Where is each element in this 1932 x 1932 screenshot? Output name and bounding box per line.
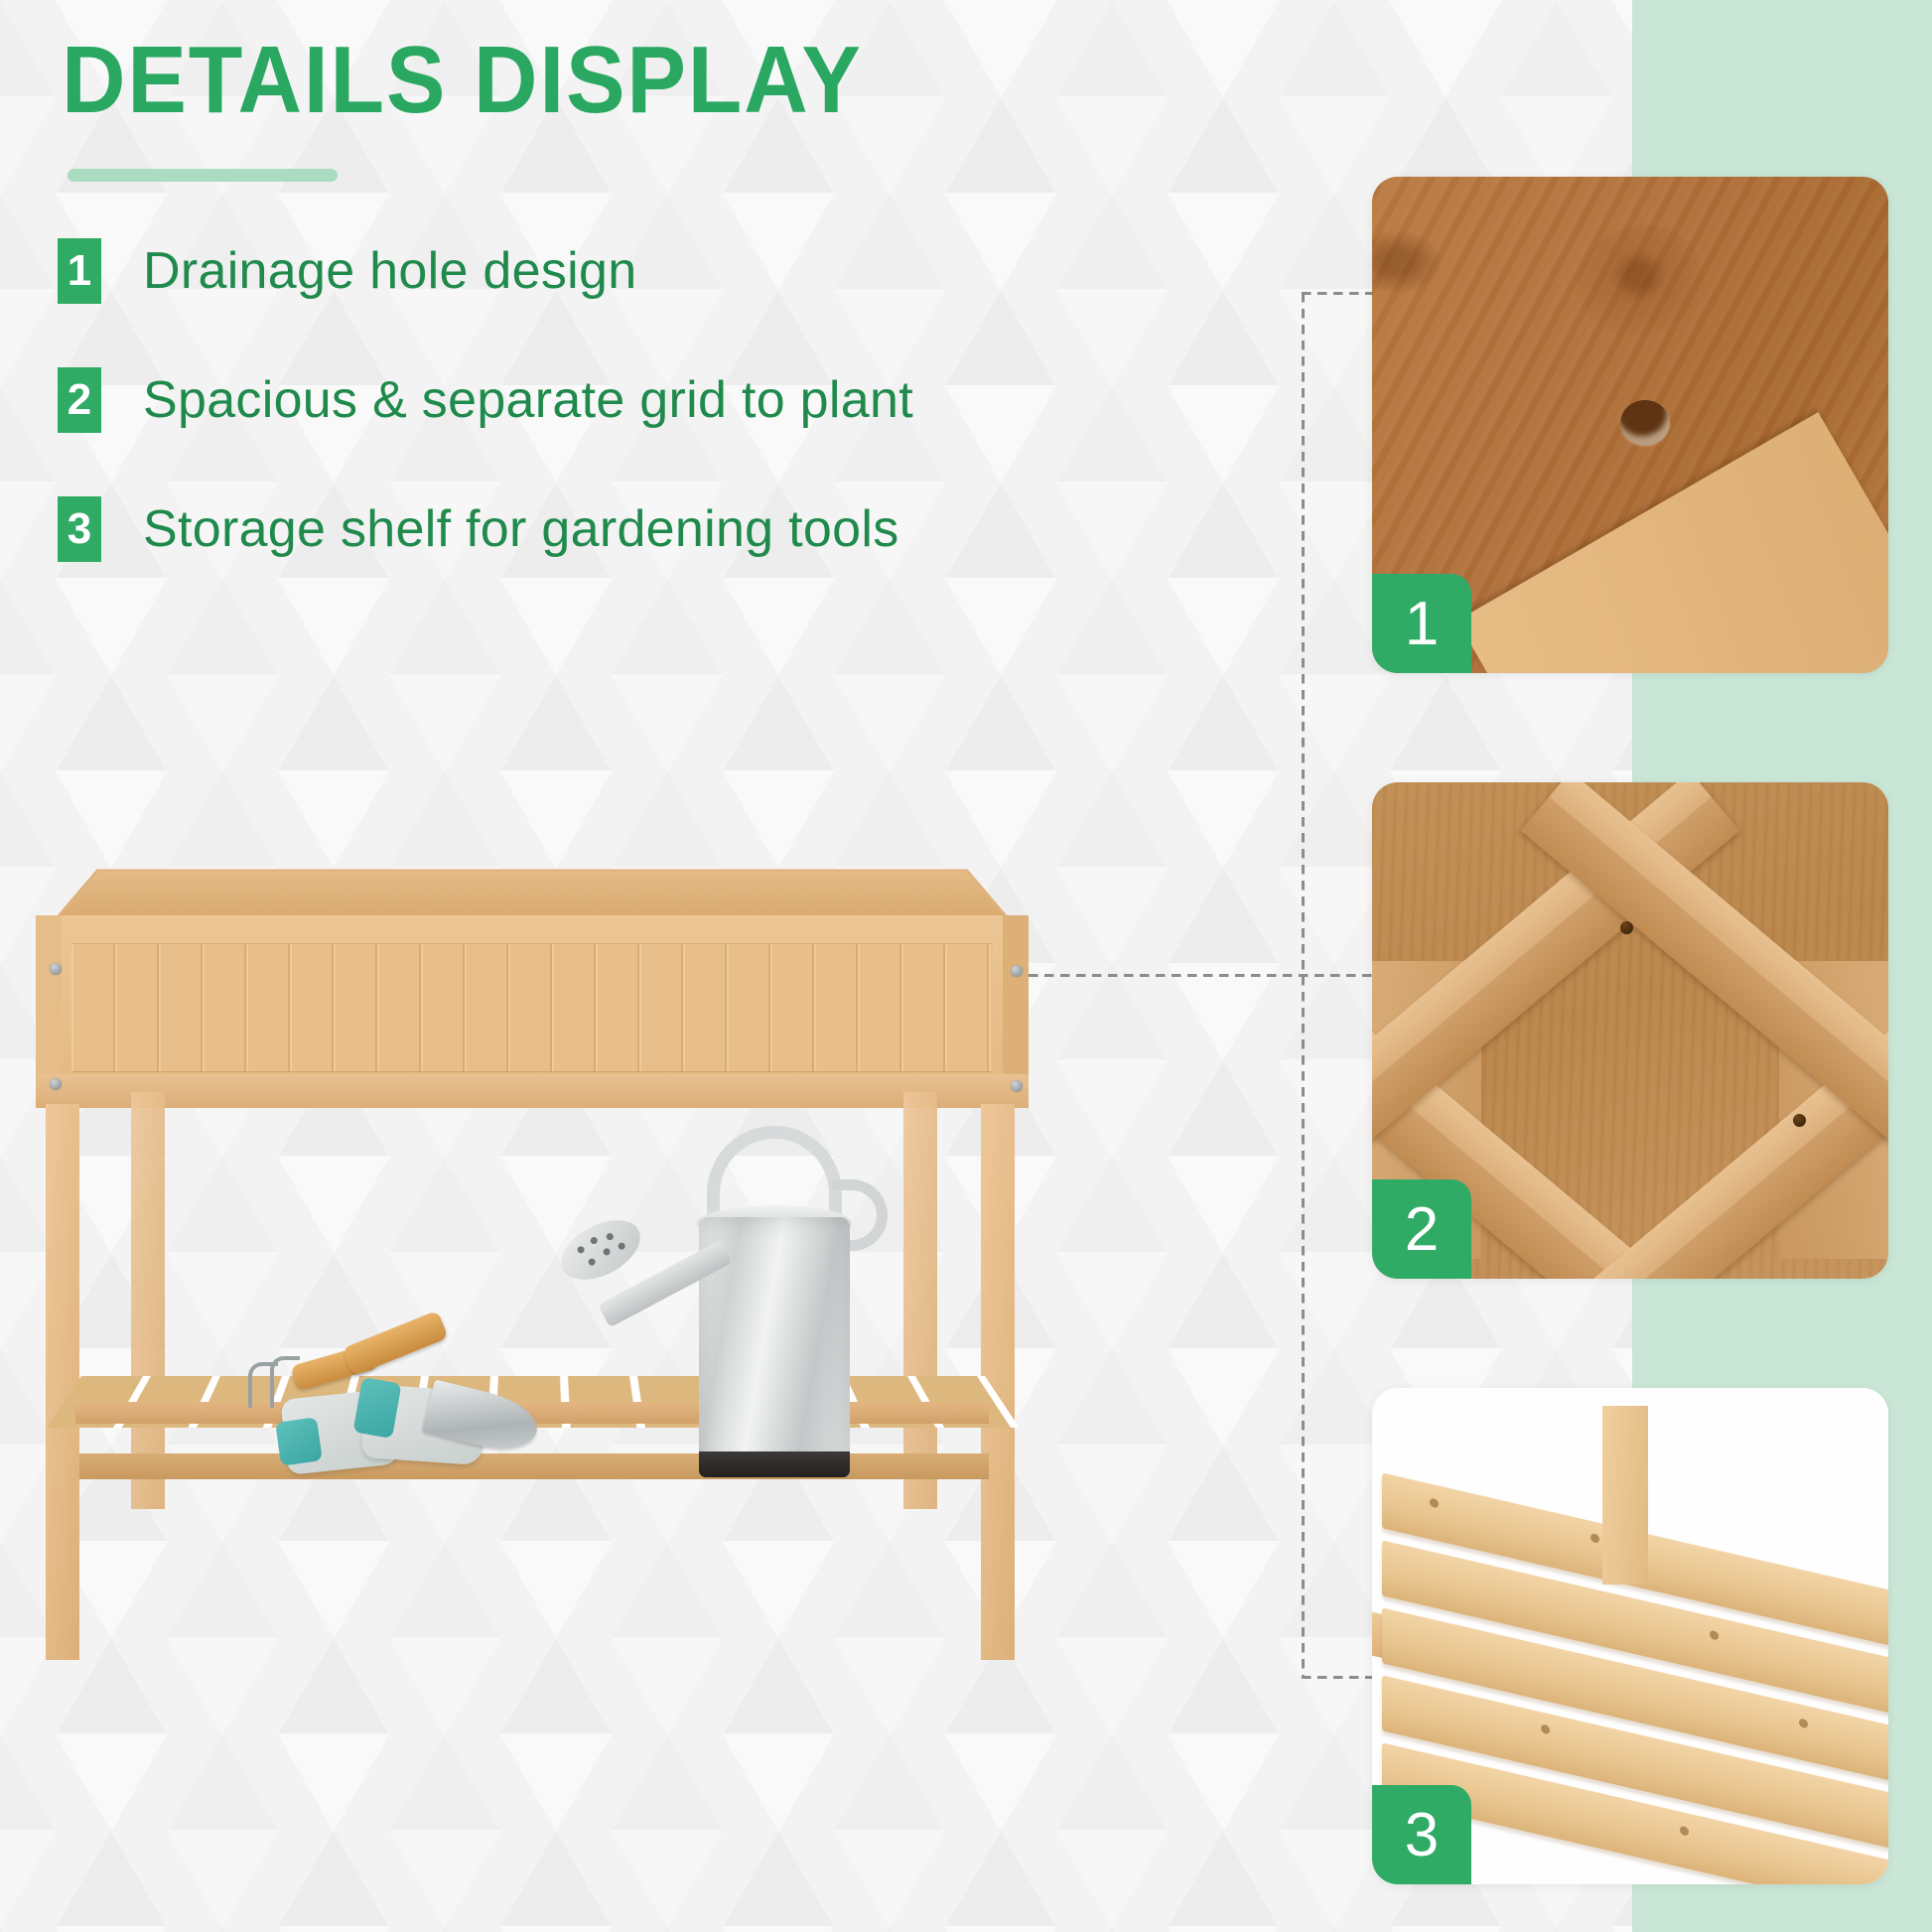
planter-leg-front-left <box>46 1104 79 1660</box>
planter-screw-bottom-right <box>1011 1080 1023 1092</box>
feature-label-2: Spacious & separate grid to plant <box>143 370 913 430</box>
feature-label-3: Storage shelf for gardening tools <box>143 499 899 559</box>
product-photo-raised-planter <box>20 794 1062 1857</box>
feature-list: 1 Drainage hole design 2 Spacious & sepa… <box>58 238 1060 625</box>
panel-2-nail-hole-2 <box>1793 1114 1806 1127</box>
drainage-hole <box>1620 400 1670 446</box>
planter-screw-top-left <box>50 963 62 975</box>
title-underline-rule <box>68 169 338 182</box>
planter-front-slats <box>71 943 993 1072</box>
watering-can-rose <box>551 1208 649 1293</box>
page-title: DETAILS DISPLAY <box>62 26 863 135</box>
feature-label-1: Drainage hole design <box>143 241 636 301</box>
gardening-tools-group <box>248 1311 536 1479</box>
planter-bottom-rail <box>36 1074 1029 1108</box>
feature-item-1: 1 Drainage hole design <box>58 238 1060 304</box>
hand-trowel-handle <box>342 1311 449 1377</box>
gardening-glove-cuff-left <box>275 1417 323 1465</box>
panel-2-nail-hole <box>1620 921 1633 934</box>
detail-panel-badge-1: 1 <box>1372 574 1471 673</box>
feature-badge-1: 1 <box>58 238 101 304</box>
detail-panel-2[interactable]: 2 <box>1372 782 1888 1279</box>
panel-3-planter-leg <box>1602 1406 1648 1585</box>
feature-badge-2: 2 <box>58 367 101 433</box>
detail-panel-badge-2: 2 <box>1372 1179 1471 1279</box>
page-stage: DETAILS DISPLAY 1 Drainage hole design 2… <box>0 0 1932 1932</box>
connector-branch-panel-2 <box>1013 974 1405 977</box>
watering-can-base-band <box>699 1451 850 1477</box>
planter-leg-back-right <box>903 1092 937 1509</box>
feature-badge-3: 3 <box>58 496 101 562</box>
planter-screw-top-right <box>1011 965 1023 977</box>
feature-item-2: 2 Spacious & separate grid to plant <box>58 367 1060 433</box>
feature-item-3: 3 Storage shelf for gardening tools <box>58 496 1060 562</box>
detail-panel-1[interactable]: 1 <box>1372 177 1888 673</box>
detail-panel-badge-3: 3 <box>1372 1785 1471 1884</box>
detail-panel-3[interactable]: 3 <box>1372 1388 1888 1884</box>
planter-top-rim <box>56 870 1009 917</box>
planter-leg-back-left <box>131 1092 165 1509</box>
planter-screw-bottom-left <box>50 1078 62 1090</box>
connector-vertical-trunk <box>1302 293 1305 1679</box>
